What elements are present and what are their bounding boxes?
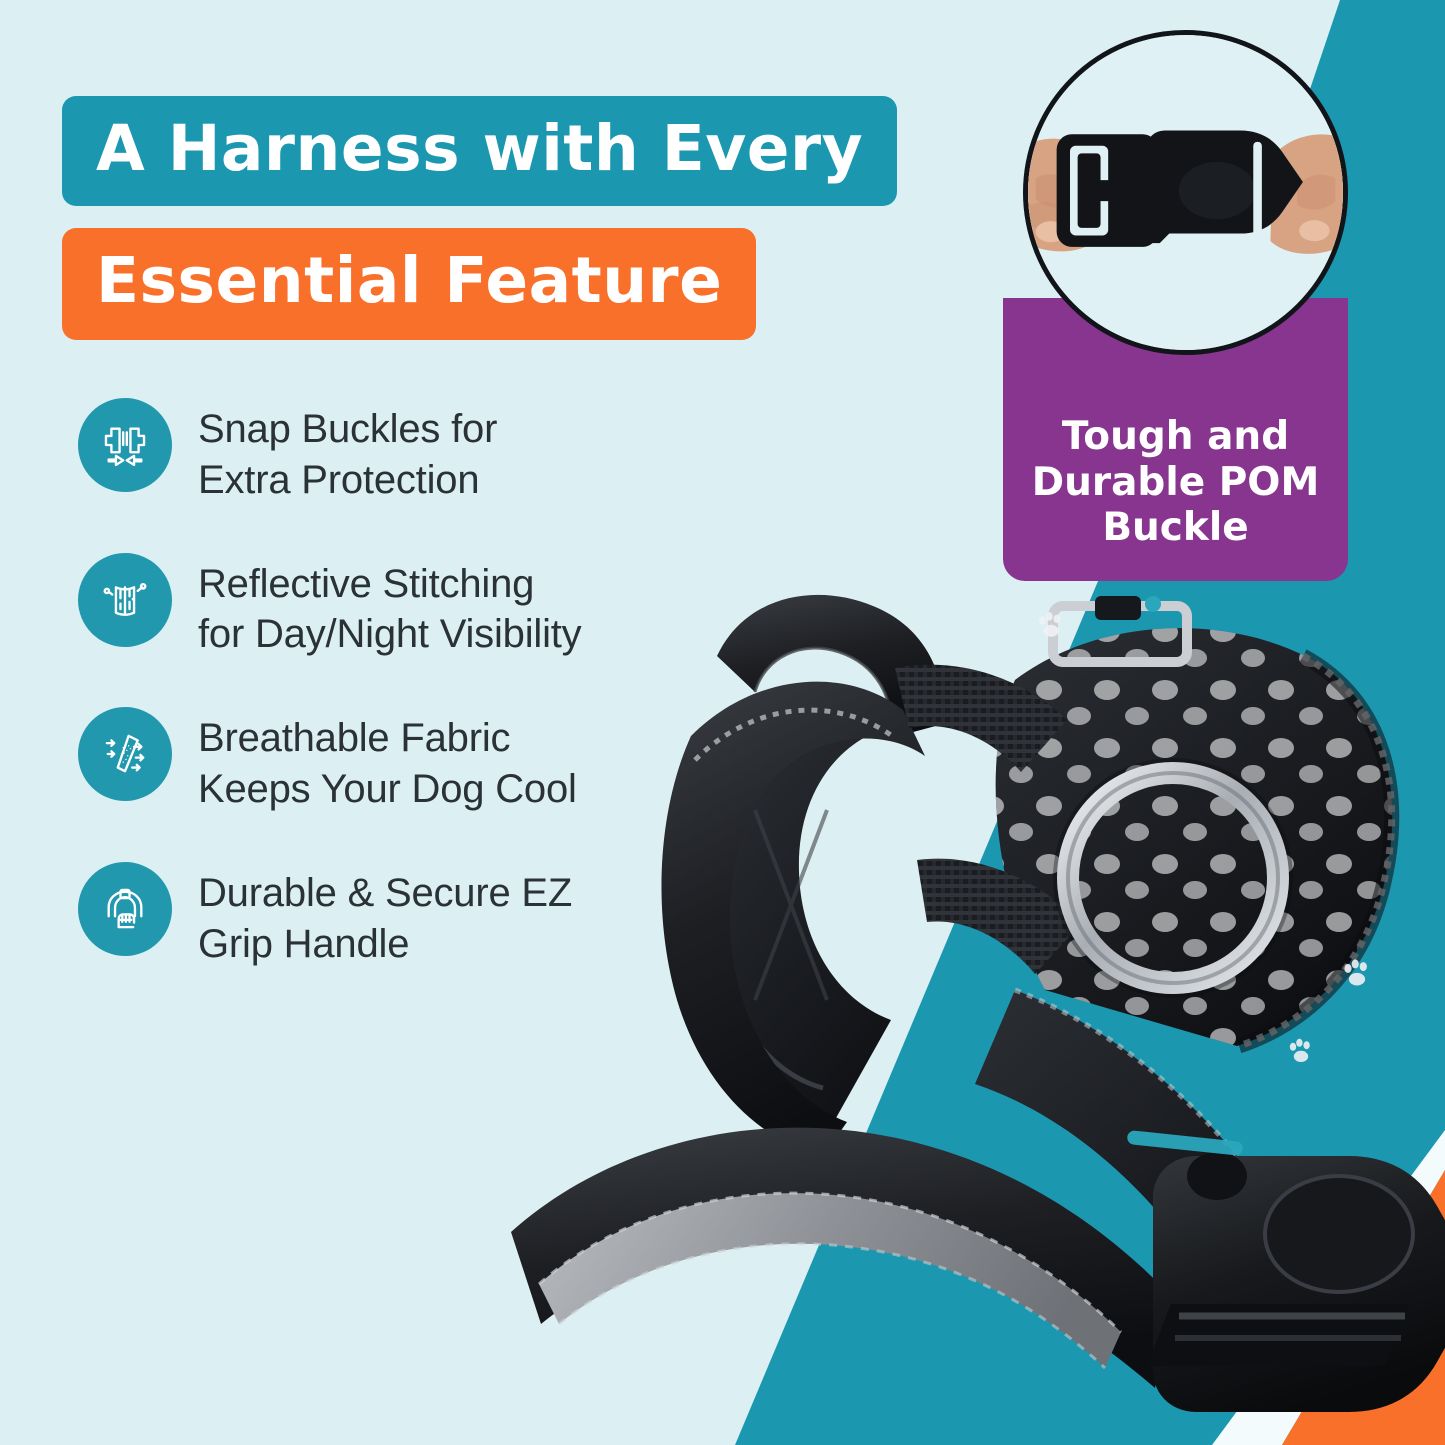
- feature-label: Reflective Stitching for Day/Night Visib…: [198, 553, 581, 661]
- feature-item: Durable & Secure EZ Grip Handle: [78, 862, 698, 970]
- feature-label-line-2: for Day/Night Visibility: [198, 609, 581, 660]
- feature-item: Reflective Stitching for Day/Night Visib…: [78, 553, 698, 661]
- feature-item: Breathable Fabric Keeps Your Dog Cool: [78, 707, 698, 815]
- harness-belly-strap: [511, 1128, 1171, 1388]
- feature-label-line-1: Reflective Stitching: [198, 559, 581, 610]
- feature-label-line-1: Snap Buckles for: [198, 404, 497, 455]
- feature-label: Durable & Secure EZ Grip Handle: [198, 862, 572, 970]
- snap-buckle-icon: [78, 398, 172, 492]
- grip-handle-icon: [78, 862, 172, 956]
- feature-label-line-2: Grip Handle: [198, 919, 572, 970]
- breathable-fabric-icon: [78, 707, 172, 801]
- callout-line-1: Tough and: [1017, 414, 1334, 460]
- feature-label-line-2: Extra Protection: [198, 455, 497, 506]
- headline-line-1: A Harness with Every: [62, 96, 897, 206]
- pom-side-release-buckle: [1127, 1130, 1445, 1412]
- feature-label-line-1: Breathable Fabric: [198, 713, 577, 764]
- callout-line-2: Durable POM: [1017, 460, 1334, 506]
- feature-item: Snap Buckles for Extra Protection: [78, 398, 698, 506]
- headline-line-2: Essential Feature: [62, 228, 756, 340]
- feature-label: Breathable Fabric Keeps Your Dog Cool: [198, 707, 577, 815]
- buckle-closeup-photo: [1023, 30, 1348, 355]
- reflective-stitching-icon: [78, 553, 172, 647]
- feature-label-line-2: Keeps Your Dog Cool: [198, 764, 577, 815]
- callout-line-3: Buckle: [1017, 505, 1334, 551]
- feature-list: Snap Buckles for Extra Protection Reflec…: [78, 398, 698, 1016]
- buckle-closeup-illustration: [1028, 35, 1343, 350]
- feature-label: Snap Buckles for Extra Protection: [198, 398, 497, 506]
- feature-label-line-1: Durable & Secure EZ: [198, 868, 572, 919]
